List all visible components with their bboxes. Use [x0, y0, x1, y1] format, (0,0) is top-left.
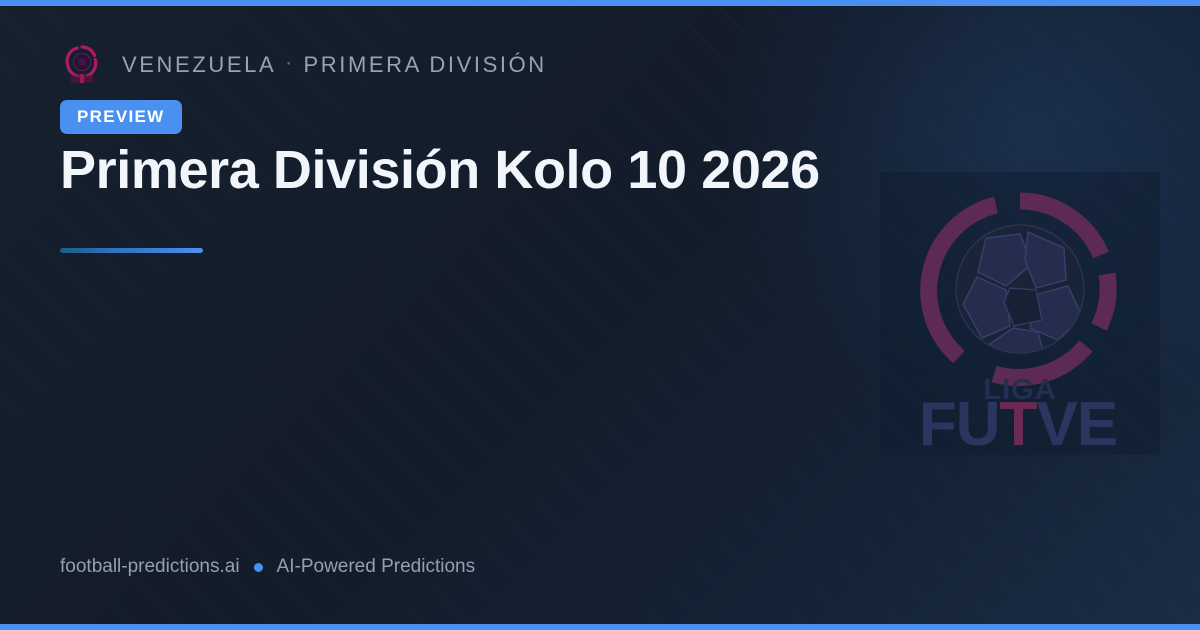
- liga-futve-crest-icon: [60, 42, 104, 88]
- footer-site: football-predictions.ai: [60, 556, 240, 578]
- breadcrumb: VENEZUELA · PRIMERA DIVISIÓN: [60, 42, 547, 88]
- liga-futve-crest-icon: LIGA FUTVE FUTVE: [886, 176, 1154, 451]
- card-content: VENEZUELA · PRIMERA DIVISIÓN PREVIEW Pri…: [60, 0, 860, 630]
- footer-separator-dot: [254, 563, 263, 572]
- competition-logo: LIGA FUTVE FUTVE: [880, 172, 1160, 455]
- og-preview-card: VENEZUELA · PRIMERA DIVISIÓN PREVIEW Pri…: [0, 0, 1200, 630]
- breadcrumb-competition: PRIMERA DIVISIÓN: [303, 52, 546, 78]
- status-badge: PREVIEW: [60, 100, 182, 134]
- breadcrumb-country: VENEZUELA: [122, 52, 276, 78]
- title-accent-rule: [60, 248, 203, 253]
- breadcrumb-separator: ·: [285, 52, 294, 75]
- footer-tagline: AI-Powered Predictions: [277, 556, 476, 578]
- footer: football-predictions.ai AI-Powered Predi…: [60, 556, 475, 578]
- page-title: Primera División Kolo 10 2026: [60, 140, 860, 200]
